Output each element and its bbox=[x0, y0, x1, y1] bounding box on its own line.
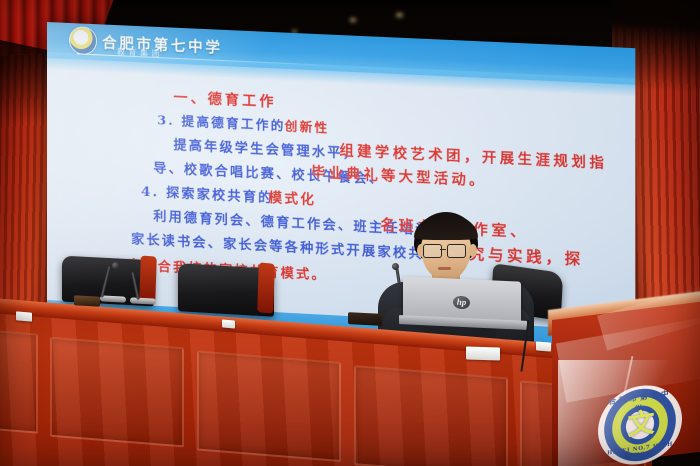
slide-line-4: 4. 探索家校共育的 bbox=[141, 181, 273, 207]
speaker-ear-right bbox=[469, 244, 477, 257]
speaker-hair-front bbox=[414, 214, 478, 240]
slide-line-1b: 创新性 bbox=[285, 115, 330, 136]
speaker-mouth bbox=[438, 267, 451, 270]
table-panel bbox=[50, 337, 184, 448]
photo-scene: 合肥市第七中学 教育集团 一、德育工作 3. 提高德育工作的 创新性 提高年级学… bbox=[0, 0, 700, 466]
table-panel bbox=[354, 365, 508, 466]
wooden-block bbox=[74, 295, 100, 306]
paper-sheet bbox=[466, 346, 500, 360]
ceiling-light-icon bbox=[350, 18, 356, 22]
microphone-head-icon bbox=[112, 262, 119, 269]
microphone-base bbox=[100, 295, 126, 302]
slide-heading: 一、德育工作 bbox=[173, 87, 276, 112]
slide-line-4b: 模式化 bbox=[268, 186, 316, 209]
slide-line-1: 3. 提高德育工作的 bbox=[157, 109, 285, 134]
slide-line-3b: 毕业典礼等大型活动。 bbox=[311, 162, 487, 191]
microphone-base bbox=[130, 297, 156, 304]
table-panel bbox=[0, 330, 38, 434]
table-card-center bbox=[222, 319, 235, 328]
table-card-right bbox=[536, 341, 551, 351]
glasses-icon bbox=[447, 244, 466, 258]
slide-line-2: 提高年级学生会管理水平， bbox=[173, 134, 358, 162]
glasses-bridge-icon bbox=[440, 249, 446, 250]
ceiling-light-icon bbox=[396, 13, 403, 17]
table-card-left bbox=[16, 311, 32, 321]
school-watermark: 合肥市第七中学 文 HEFEI NO.7 HIGH SCHOOL bbox=[598, 386, 682, 464]
chair-center-frame bbox=[257, 262, 275, 313]
watermark-glyph-icon: 文 bbox=[626, 408, 656, 442]
desk-object-box bbox=[348, 312, 382, 326]
hp-logo-icon: hp bbox=[453, 296, 470, 310]
glasses-icon bbox=[423, 244, 442, 258]
table-panel bbox=[197, 350, 341, 462]
